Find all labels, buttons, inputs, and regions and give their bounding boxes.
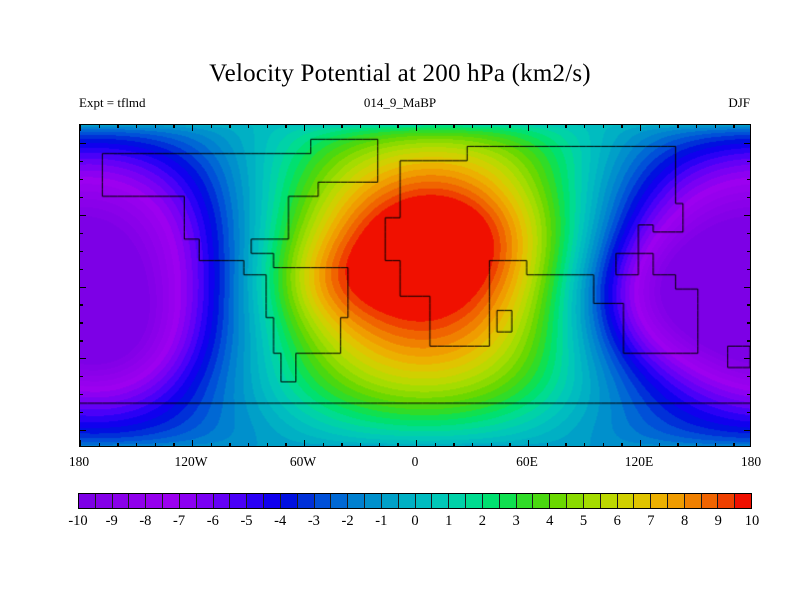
y-tick--70: [80, 412, 83, 413]
x-axis-label-180: 180: [69, 454, 89, 470]
x-tick--140: [155, 443, 156, 446]
colorbar-tick--1: -1: [375, 513, 387, 530]
x-tick-130: [659, 125, 660, 128]
colorbar-cell-7: [197, 494, 214, 508]
y-tick-40: [744, 215, 750, 216]
y-tick-60: [747, 179, 750, 180]
y-tick-20: [747, 251, 750, 252]
x-tick--50: [323, 125, 324, 128]
x-tick-90: [584, 125, 585, 128]
y-tick--20: [747, 322, 750, 323]
y-tick-0: [80, 287, 86, 288]
x-tick--60: [304, 125, 305, 131]
colorbar-tick--6: -6: [207, 513, 219, 530]
colorbar-tick-1: 1: [445, 513, 452, 530]
colorbar-cell-3: [129, 494, 146, 508]
x-tick-70: [547, 443, 548, 446]
x-tick-160: [715, 125, 716, 128]
x-tick--60: [304, 440, 305, 446]
colorbar-cell-12: [281, 494, 298, 508]
x-tick-170: [733, 125, 734, 128]
colorbar-cell-6: [180, 494, 197, 508]
x-tick--80: [267, 125, 268, 128]
x-tick--90: [248, 125, 249, 128]
figure-canvas: Velocity Potential at 200 hPa (km2/s) Ex…: [0, 0, 800, 600]
x-tick-60: [528, 125, 529, 131]
x-tick-140: [677, 125, 678, 128]
x-tick-100: [603, 443, 604, 446]
x-tick--120: [192, 440, 193, 446]
y-tick-60: [80, 179, 83, 180]
colorbar-cell-10: [247, 494, 264, 508]
x-tick--100: [229, 125, 230, 128]
x-tick--10: [397, 125, 398, 128]
y-tick--80: [80, 430, 86, 431]
y-tick--60: [747, 394, 750, 395]
y-tick--80: [744, 430, 750, 431]
x-tick--100: [229, 443, 230, 446]
y-tick--40: [80, 358, 86, 359]
season-label: DJF: [728, 95, 750, 111]
colorbar-tick-2: 2: [479, 513, 486, 530]
colorbar-cell-35: [668, 494, 685, 508]
x-tick-0: [416, 440, 417, 446]
x-tick--30: [360, 443, 361, 446]
x-tick-30: [472, 125, 473, 128]
x-tick--150: [136, 443, 137, 446]
colorbar-cell-20: [416, 494, 433, 508]
y-tick--40: [744, 358, 750, 359]
x-tick-50: [509, 443, 510, 446]
colorbar-cell-11: [264, 494, 281, 508]
x-axis-label-0: 0: [412, 454, 419, 470]
colorbar-tick-8: 8: [681, 513, 688, 530]
colorbar-tick--8: -8: [139, 513, 151, 530]
colorbar-cell-27: [533, 494, 550, 508]
colorbar-cell-39: [735, 494, 751, 508]
x-tick-170: [733, 443, 734, 446]
colorbar-cell-36: [685, 494, 702, 508]
colorbar-cell-29: [567, 494, 584, 508]
x-tick-120: [640, 440, 641, 446]
colorbar-cell-32: [618, 494, 635, 508]
y-tick-20: [80, 251, 83, 252]
x-tick-80: [565, 125, 566, 128]
colorbar-cell-5: [163, 494, 180, 508]
y-tick-50: [80, 197, 83, 198]
x-axis-label-60W: 60W: [290, 454, 316, 470]
y-tick--10: [747, 304, 750, 305]
colorbar-cell-18: [382, 494, 399, 508]
colorbar-cell-14: [315, 494, 332, 508]
x-tick-80: [565, 443, 566, 446]
y-tick-50: [747, 197, 750, 198]
colorbar-cell-19: [399, 494, 416, 508]
colorbar-tick-7: 7: [647, 513, 654, 530]
x-tick-40: [491, 443, 492, 446]
page-title: Velocity Potential at 200 hPa (km2/s): [0, 60, 800, 88]
x-axis-label-180: 180: [741, 454, 761, 470]
colorbar-cell-37: [702, 494, 719, 508]
colorbar-cell-24: [483, 494, 500, 508]
x-tick-10: [435, 443, 436, 446]
colorbar-tick-3: 3: [512, 513, 519, 530]
x-tick--160: [117, 443, 118, 446]
y-tick--30: [747, 340, 750, 341]
y-tick-0: [744, 287, 750, 288]
x-tick--130: [173, 125, 174, 128]
x-tick--20: [379, 125, 380, 128]
y-tick--20: [80, 322, 83, 323]
colorbar: [78, 493, 752, 509]
colorbar-cell-21: [432, 494, 449, 508]
colorbar-cell-8: [214, 494, 231, 508]
x-tick-120: [640, 125, 641, 131]
y-tick-70: [747, 161, 750, 162]
x-tick-110: [621, 443, 622, 446]
x-tick--30: [360, 125, 361, 128]
y-tick-30: [747, 233, 750, 234]
colorbar-cell-25: [500, 494, 517, 508]
x-tick-60: [528, 440, 529, 446]
colorbar-tick--10: -10: [68, 513, 87, 530]
y-tick--50: [80, 376, 83, 377]
x-tick-50: [509, 125, 510, 128]
colorbar-cell-13: [298, 494, 315, 508]
colorbar-tick-0: 0: [411, 513, 418, 530]
x-tick-20: [453, 443, 454, 446]
y-tick-80: [80, 143, 86, 144]
x-tick-90: [584, 443, 585, 446]
colorbar-tick--5: -5: [240, 513, 252, 530]
colorbar-tick-10: 10: [745, 513, 760, 530]
colorbar-cell-4: [146, 494, 163, 508]
y-tick--50: [747, 376, 750, 377]
colorbar-cell-2: [113, 494, 130, 508]
y-tick--60: [80, 394, 83, 395]
colorbar-cell-0: [79, 494, 96, 508]
x-tick-40: [491, 125, 492, 128]
x-tick-70: [547, 125, 548, 128]
x-tick-20: [453, 125, 454, 128]
colorbar-tick--9: -9: [106, 513, 118, 530]
colorbar-cell-28: [550, 494, 567, 508]
colorbar-tick-5: 5: [580, 513, 587, 530]
x-tick-10: [435, 125, 436, 128]
x-tick--170: [99, 443, 100, 446]
colorbar-cell-38: [718, 494, 735, 508]
x-tick--40: [341, 125, 342, 128]
x-tick--170: [99, 125, 100, 128]
x-tick-150: [696, 443, 697, 446]
x-tick--50: [323, 443, 324, 446]
colorbar-tick-4: 4: [546, 513, 553, 530]
colorbar-cell-34: [651, 494, 668, 508]
colorbar-cell-15: [331, 494, 348, 508]
colorbar-tick--7: -7: [173, 513, 185, 530]
y-tick-10: [747, 269, 750, 270]
y-tick--30: [80, 340, 83, 341]
colorbar-tick-9: 9: [715, 513, 722, 530]
x-tick--130: [173, 443, 174, 446]
colorbar-cell-17: [365, 494, 382, 508]
colorbar-cell-1: [96, 494, 113, 508]
colorbar-cell-26: [517, 494, 534, 508]
y-tick-10: [80, 269, 83, 270]
x-tick--20: [379, 443, 380, 446]
x-tick-160: [715, 443, 716, 446]
x-tick--180: [80, 440, 81, 446]
x-tick-110: [621, 125, 622, 128]
colorbar-cell-16: [348, 494, 365, 508]
x-tick-150: [696, 125, 697, 128]
x-tick--80: [267, 443, 268, 446]
x-axis-label-120E: 120E: [625, 454, 654, 470]
y-tick-80: [744, 143, 750, 144]
x-tick--110: [211, 125, 212, 128]
x-tick--120: [192, 125, 193, 131]
colorbar-cell-30: [584, 494, 601, 508]
y-tick-30: [80, 233, 83, 234]
colorbar-cell-9: [230, 494, 247, 508]
x-tick-30: [472, 443, 473, 446]
x-tick--150: [136, 125, 137, 128]
colorbar-cell-33: [634, 494, 651, 508]
x-tick-140: [677, 443, 678, 446]
colorbar-cell-23: [466, 494, 483, 508]
colorbar-tick--2: -2: [342, 513, 354, 530]
colorbar-tick-6: 6: [614, 513, 621, 530]
x-tick--110: [211, 443, 212, 446]
coastline-overlay: [80, 125, 750, 446]
x-tick--40: [341, 443, 342, 446]
colorbar-cell-22: [449, 494, 466, 508]
x-tick-130: [659, 443, 660, 446]
x-tick-0: [416, 125, 417, 131]
x-tick--10: [397, 443, 398, 446]
x-tick--70: [285, 443, 286, 446]
x-tick--160: [117, 125, 118, 128]
x-tick--90: [248, 443, 249, 446]
x-tick-100: [603, 125, 604, 128]
colorbar-tick--3: -3: [308, 513, 320, 530]
x-axis-label-60E: 60E: [516, 454, 538, 470]
x-axis-label-120W: 120W: [175, 454, 208, 470]
y-tick--70: [747, 412, 750, 413]
map-plot-area: [79, 124, 751, 447]
y-tick-70: [80, 161, 83, 162]
x-tick--180: [80, 125, 81, 131]
colorbar-cell-31: [601, 494, 618, 508]
x-tick--140: [155, 125, 156, 128]
run-id-label: 014_9_MaBP: [0, 95, 800, 111]
x-tick--70: [285, 125, 286, 128]
y-tick-40: [80, 215, 86, 216]
y-tick--10: [80, 304, 83, 305]
colorbar-tick--4: -4: [274, 513, 286, 530]
